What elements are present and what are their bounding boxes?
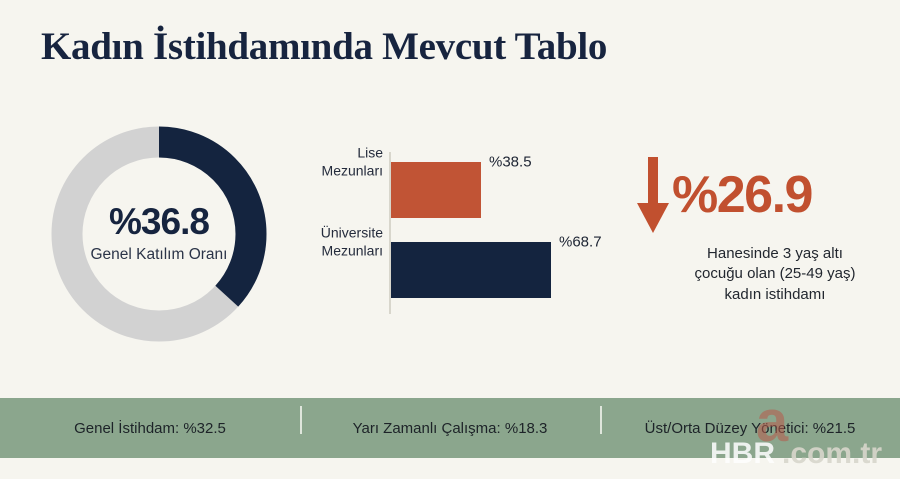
down-arrow-icon: [636, 155, 670, 235]
page-title: Kadın İstihdamında Mevcut Tablo: [41, 24, 607, 69]
footer-stat-yari-zamanli: Yarı Zamanlı Çalışma: %18.3: [300, 420, 600, 437]
bar-category-label: Lise Mezunları: [293, 145, 383, 180]
footer-stat-yonetici: Üst/Orta Düzey Yönetici: %21.5: [600, 420, 900, 437]
highlight-caption: Hanesinde 3 yaş altı çocuğu olan (25-49 …: [664, 244, 886, 305]
highlight-value-row: %26.9: [636, 152, 886, 238]
donut-label: Genel Katılım Oranı: [91, 246, 228, 265]
donut-value: %36.8: [109, 203, 209, 242]
donut-center-label: %36.8 Genel Katılım Oranı: [50, 125, 268, 343]
infographic-canvas: Kadın İstihdamında Mevcut Tablo %36.8 Ge…: [0, 0, 900, 479]
highlight-stat: %26.9 Hanesinde 3 yaş altı çocuğu olan (…: [636, 152, 886, 305]
footer-stat-genel-istihdam: Genel İstihdam: %32.5: [0, 420, 300, 437]
highlight-value: %26.9: [672, 169, 812, 221]
bar-rect-universite: [391, 242, 551, 298]
donut-chart: %36.8 Genel Katılım Oranı: [50, 125, 268, 343]
bar-chart: Lise Mezunları %38.5 Üniversite Mezunlar…: [300, 148, 600, 318]
bar-rect-lise: [391, 162, 481, 218]
footer-bar: Genel İstihdam: %32.5 Yarı Zamanlı Çalış…: [0, 398, 900, 458]
bar-category-label: Üniversite Mezunları: [293, 225, 383, 260]
bar-value-label: %38.5: [489, 154, 532, 171]
bar-value-label: %68.7: [559, 234, 602, 251]
